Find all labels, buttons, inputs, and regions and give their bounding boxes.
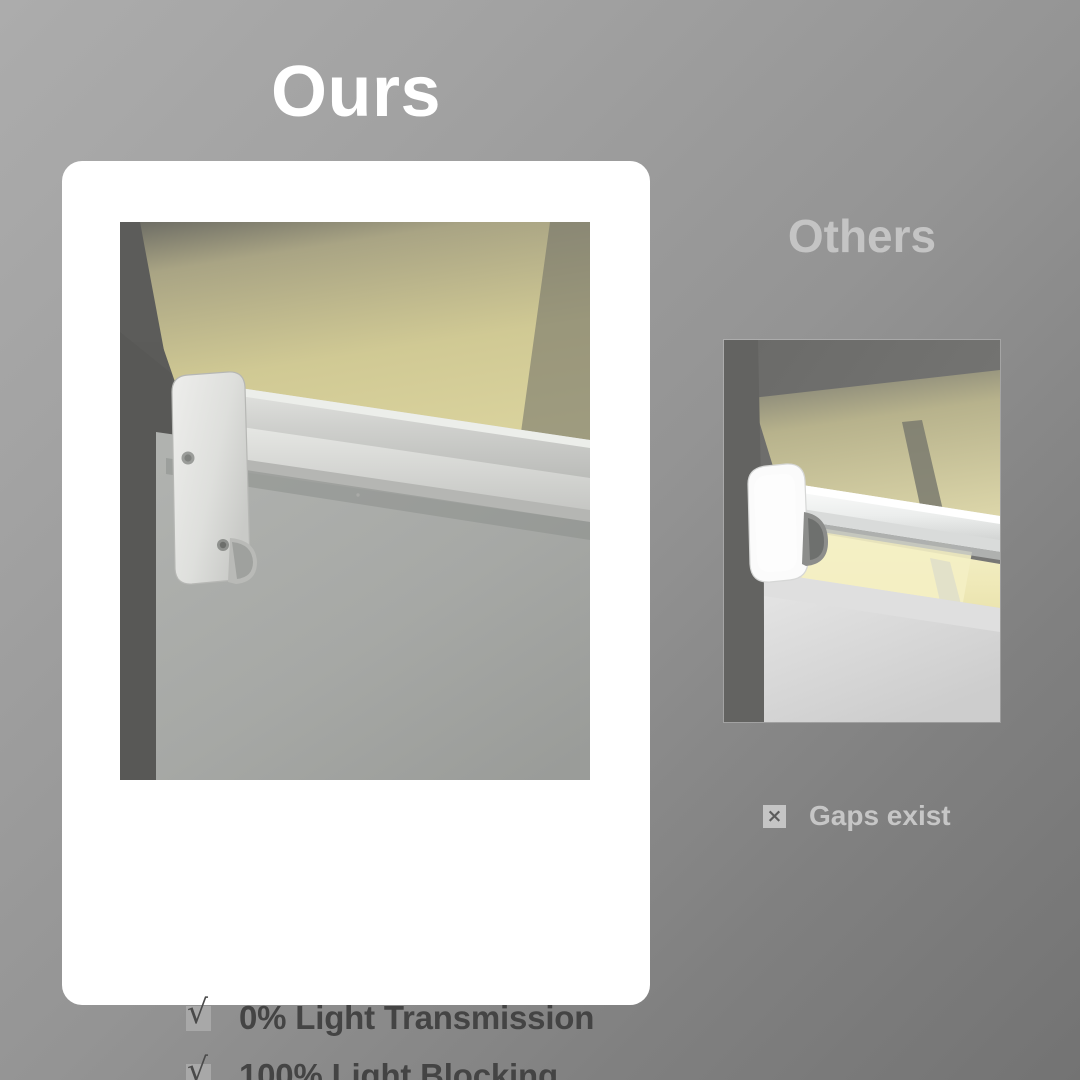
others-product-photo — [724, 340, 1000, 722]
others-feature-list: × Gaps exist — [763, 800, 951, 832]
ours-photo-illustration — [120, 222, 590, 780]
ours-title: Ours — [62, 56, 650, 128]
feature-row-1: √ 100% Light Blocking — [186, 1047, 594, 1080]
ours-product-photo — [120, 222, 590, 780]
feature-label: 100% Light Blocking — [239, 1057, 558, 1080]
gaps-label: Gaps exist — [809, 800, 951, 832]
check-icon: √ — [186, 1006, 211, 1031]
check-icon: √ — [186, 1064, 211, 1080]
comparison-graphic: Ours — [0, 0, 1080, 1080]
others-title: Others — [722, 213, 1002, 259]
x-icon: × — [763, 805, 786, 828]
feature-label: 0% Light Transmission — [239, 999, 594, 1037]
others-photo-illustration — [724, 340, 1000, 722]
ours-feature-list: √ 0% Light Transmission √ 100% Light Blo… — [186, 989, 594, 1080]
ours-card: √ 0% Light Transmission √ 100% Light Blo… — [62, 161, 650, 1005]
feature-row-0: √ 0% Light Transmission — [186, 989, 594, 1047]
